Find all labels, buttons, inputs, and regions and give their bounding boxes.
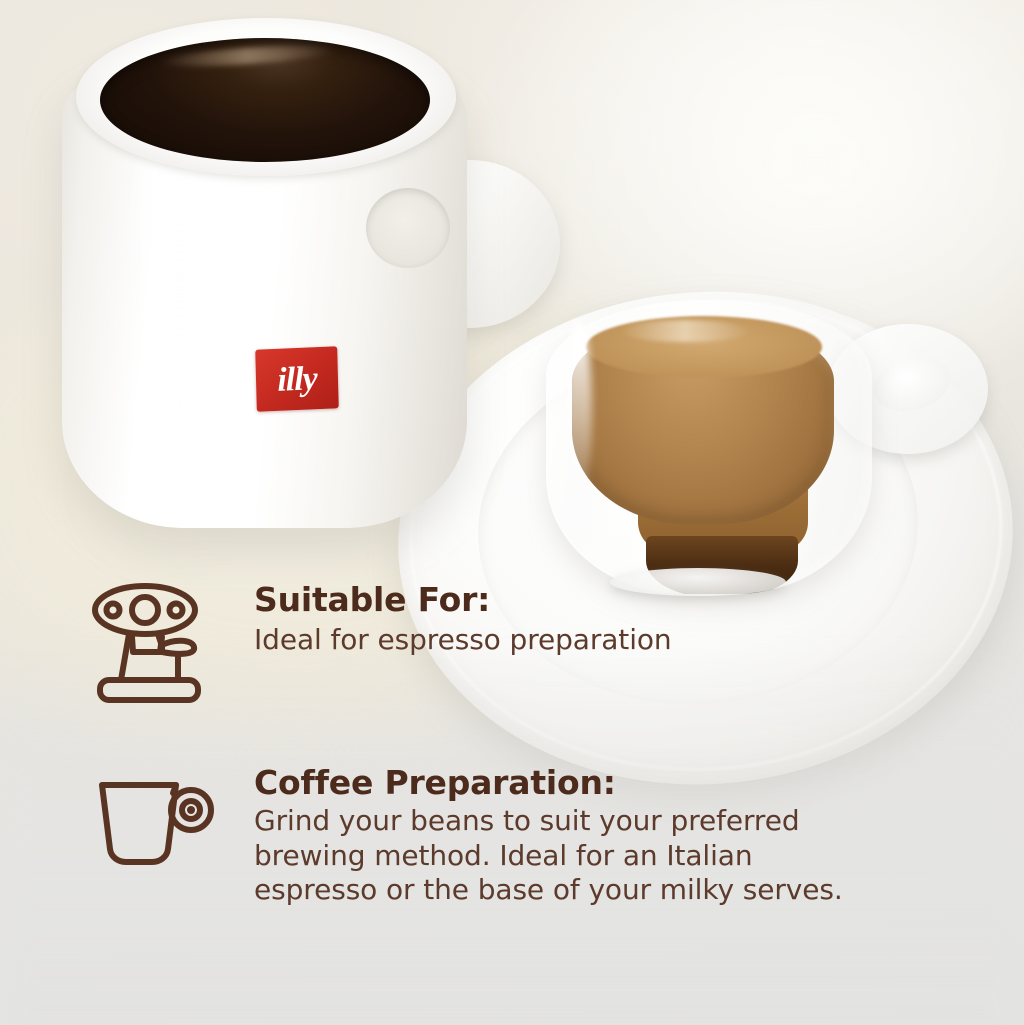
illy-logo-text: illy xyxy=(277,362,317,398)
suitable-for-text: Suitable For: Ideal for espresso prepara… xyxy=(216,582,672,658)
info-block-suitable-for: Suitable For: Ideal for espresso prepara… xyxy=(88,582,672,707)
coffee-preparation-line-3: espresso or the base of your milky serve… xyxy=(254,873,843,908)
espresso-machine-icon xyxy=(88,582,216,707)
coffee-preparation-line-2: brewing method. Ideal for an Italian xyxy=(254,839,843,874)
info-overlay: Suitable For: Ideal for espresso prepara… xyxy=(0,560,1024,1025)
suitable-for-heading: Suitable For: xyxy=(254,582,672,619)
coffee-preparation-text: Coffee Preparation: Grind your beans to … xyxy=(216,765,843,908)
product-info-graphic: illy xyxy=(0,0,1024,1025)
coffee-cup-icon xyxy=(88,765,216,877)
espresso-crema-foam-highlight xyxy=(620,320,750,342)
glass-espresso-cup xyxy=(528,286,948,606)
info-block-coffee-preparation: Coffee Preparation: Grind your beans to … xyxy=(88,765,843,908)
mug-handle-opening xyxy=(366,188,450,268)
suitable-for-line-1: Ideal for espresso preparation xyxy=(254,623,672,658)
coffee-preparation-heading: Coffee Preparation: xyxy=(254,765,843,802)
illy-mug xyxy=(62,18,467,528)
coffee-preparation-line-1: Grind your beans to suit your preferred xyxy=(254,804,843,839)
glass-highlight xyxy=(566,320,592,500)
suitable-for-body: Ideal for espresso preparation xyxy=(254,623,672,658)
illy-logo: illy xyxy=(255,346,339,412)
coffee-preparation-body: Grind your beans to suit your preferred … xyxy=(254,804,843,908)
